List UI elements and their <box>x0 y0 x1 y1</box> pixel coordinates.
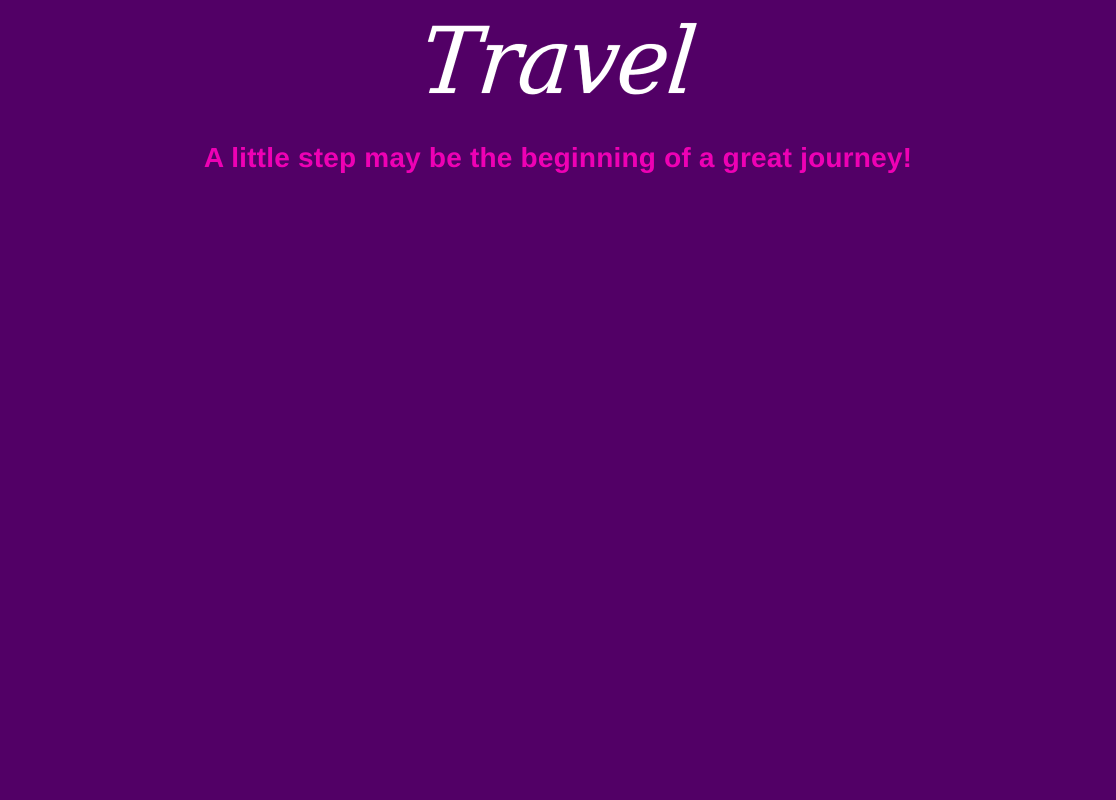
hero-header: Travel A little step may be the beginnin… <box>0 0 1116 174</box>
hero-tagline: A little step may be the beginning of a … <box>0 142 1116 174</box>
travel-page: Travel A little step may be the beginnin… <box>0 0 1116 800</box>
main-content-area <box>0 200 1116 800</box>
page-title: Travel <box>16 6 1099 118</box>
